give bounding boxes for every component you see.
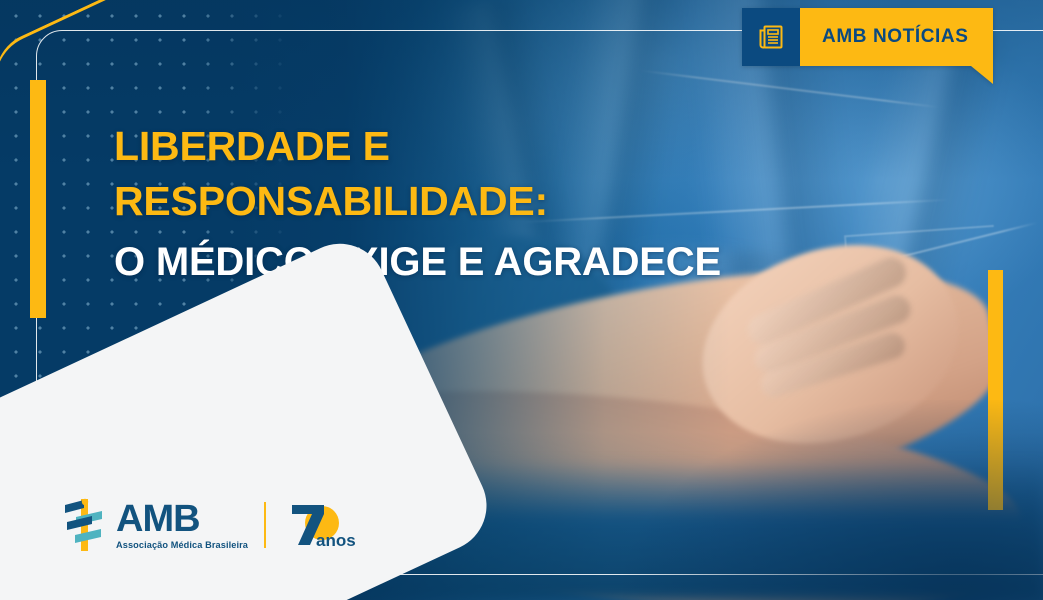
badge-label: AMB NOTÍCIAS [822,26,969,48]
amb-logo[interactable]: AMB Associação Médica Brasileira anos [62,496,360,554]
headline-line-3: O MÉDICO EXIGE E AGRADECE [114,242,874,282]
badge-tail [971,66,993,84]
amb-noticias-banner: AMB NOTÍCIAS LIBERDADE E RESPONSABILIDAD… [0,0,1043,600]
badge-icon-container [742,8,800,66]
amb-tagline: Associação Médica Brasileira [116,541,248,550]
yellow-bar-right [988,270,1003,510]
headline-line-1: LIBERDADE E [114,126,874,167]
headline-block: LIBERDADE E RESPONSABILIDADE: O MÉDICO E… [114,126,874,282]
caduceus-ribbon-icon [62,496,106,554]
amb-noticias-badge[interactable]: AMB NOTÍCIAS [742,8,993,66]
amb-wordmark: AMB Associação Médica Brasileira [116,500,248,550]
yellow-bar-left [30,80,46,318]
badge-label-container: AMB NOTÍCIAS [800,8,993,66]
svg-text:anos: anos [316,531,356,550]
logo-divider [264,502,266,548]
headline-line-2: RESPONSABILIDADE: [114,181,874,222]
amb-letters: AMB [116,500,248,538]
anniversary-mark: anos [286,499,360,551]
newspaper-icon [758,23,784,51]
